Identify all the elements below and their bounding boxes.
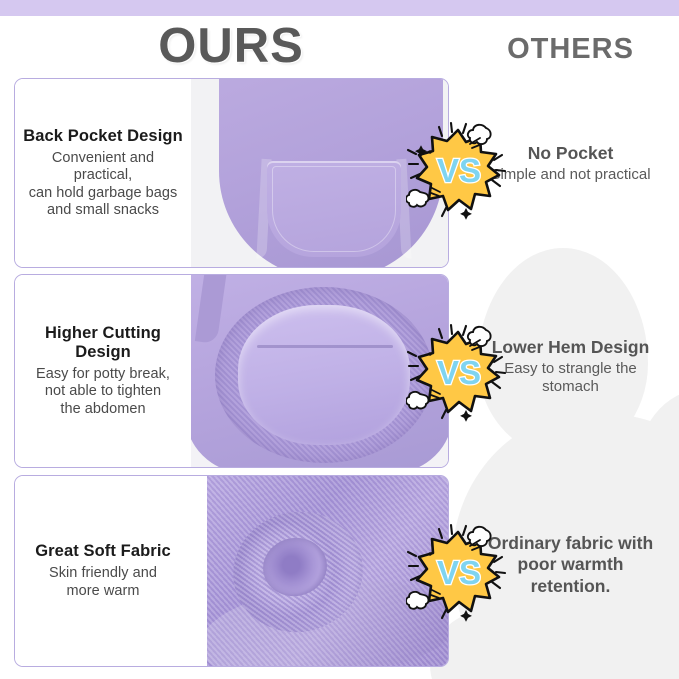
infographic-page: OURS OTHERS Back Pocket Design Convenien…	[0, 0, 679, 679]
comparison-card-1: Back Pocket Design Convenient and practi…	[14, 78, 449, 268]
comparison-card-3: Great Soft Fabric Skin friendly andmore …	[14, 475, 449, 667]
comparison-card-2: Higher CuttingDesign Easy for potty brea…	[14, 274, 449, 468]
ours-text-2: Higher CuttingDesign Easy for potty brea…	[15, 275, 191, 467]
heading-ours: OURS	[0, 18, 462, 74]
vs-badge-3: VS	[406, 522, 510, 626]
vs-label-1: VS	[437, 152, 481, 189]
vs-label-2: VS	[437, 354, 481, 391]
ours-title-3: Great Soft Fabric	[35, 542, 171, 561]
ours-subtitle-1: Convenient and practical,can hold garbag…	[21, 150, 185, 220]
heading-others: OTHERS	[462, 33, 679, 66]
vs-starburst-icon: VS	[406, 120, 510, 224]
ours-text-3: Great Soft Fabric Skin friendly andmore …	[15, 476, 191, 666]
vs-badge-2: VS	[406, 322, 510, 426]
ours-title-1: Back Pocket Design	[23, 127, 183, 146]
vs-badge-1: VS	[406, 120, 510, 224]
vs-starburst-icon: VS	[406, 522, 510, 626]
ours-title-2: Higher CuttingDesign	[45, 324, 161, 362]
ours-text-1: Back Pocket Design Convenient and practi…	[15, 79, 191, 267]
top-accent-strip	[0, 0, 679, 16]
ours-subtitle-2: Easy for potty break,not able to tighten…	[36, 366, 170, 418]
vs-starburst-icon: VS	[406, 322, 510, 426]
vs-label-3: VS	[437, 554, 481, 591]
ours-subtitle-3: Skin friendly andmore warm	[49, 565, 157, 600]
